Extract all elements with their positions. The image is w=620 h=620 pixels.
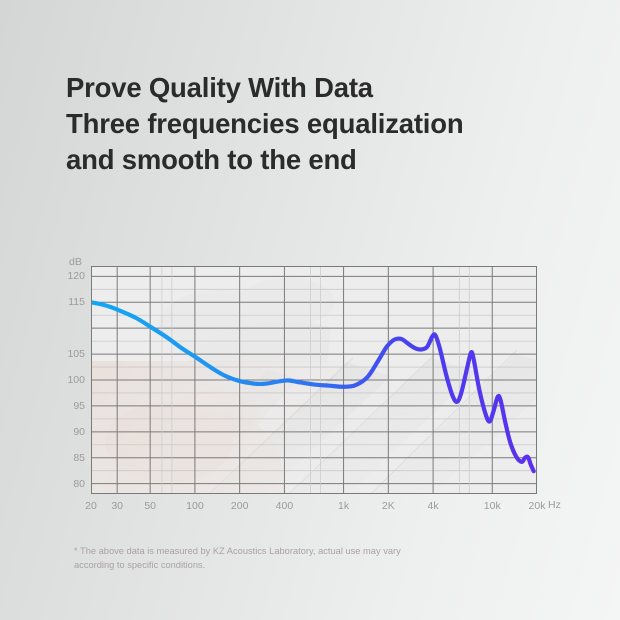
x-axis-tick-label: 1k [338,500,349,512]
x-axis-tick-label: 10k [484,500,501,512]
x-axis-tick-label: 4k [428,500,439,512]
x-axis-tick-label: 20k [529,500,546,512]
x-axis-unit-label: Hz [548,499,561,511]
y-axis-tick-label: 115 [51,296,85,308]
y-axis-tick-label: 120 [51,270,85,282]
y-axis-tick-label: 85 [51,452,85,464]
x-axis-tick-label: 50 [144,500,156,512]
y-axis-tick-label: 80 [51,478,85,490]
y-axis-tick-label: 90 [51,426,85,438]
frequency-response-chart: dB Hz 12011510510095908580 2030501002004… [0,250,620,550]
disclaimer-note: * The above data is measured by KZ Acous… [74,544,544,573]
x-axis-tick-label: 100 [186,500,204,512]
y-axis-tick-label: 100 [51,374,85,386]
x-axis-tick-label: 30 [111,500,123,512]
y-axis-unit-label: dB [69,256,82,268]
x-axis-tick-label: 200 [231,500,249,512]
y-axis-tick-label: 95 [51,400,85,412]
x-axis-tick-label: 2K [382,500,395,512]
page-title: Prove Quality With Data Three frequencie… [66,70,586,177]
response-curve [91,266,537,494]
promo-page: Prove Quality With Data Three frequencie… [0,0,620,620]
y-axis-tick-label: 105 [51,348,85,360]
plot-area [91,266,537,494]
x-axis-tick-label: 20 [85,500,97,512]
x-axis-tick-label: 400 [276,500,294,512]
